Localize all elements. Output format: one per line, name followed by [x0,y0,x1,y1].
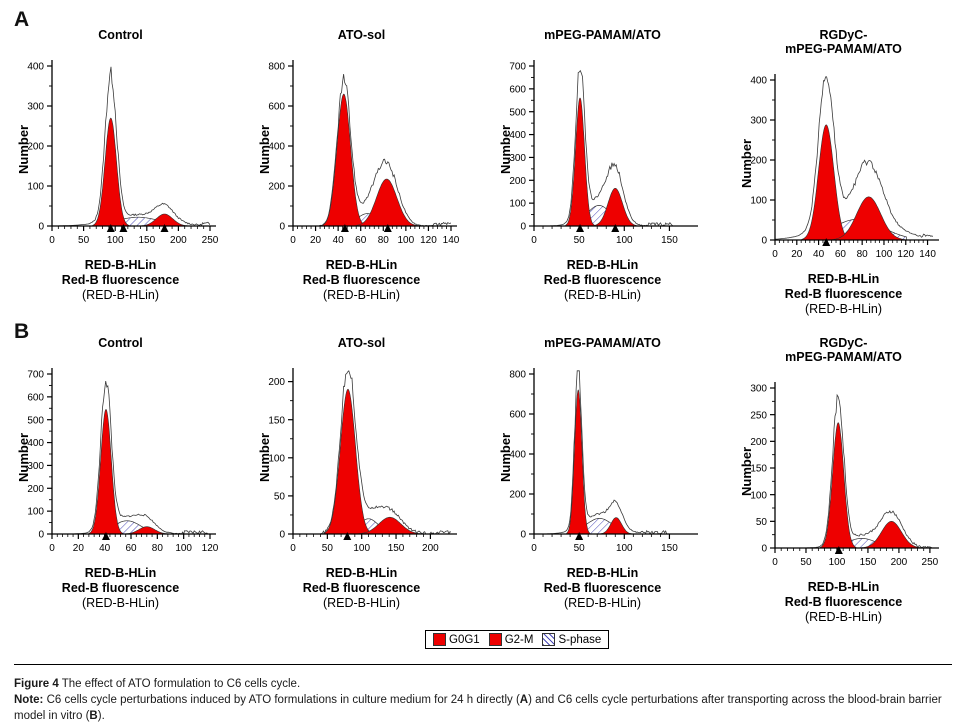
x-caption-line3: (RED-B-HLin) [723,302,964,317]
x-caption-line1: RED-B-HLin [241,566,482,581]
y-tick-label: 150 [268,415,285,426]
x-tick-label: 50 [322,543,334,554]
y-tick-label: 500 [509,107,526,118]
plot-a3: 0100200300400500600700050100150 [482,44,723,256]
x-caption-line3: (RED-B-HLin) [482,596,723,611]
x-tick-label: 50 [78,235,90,246]
x-tick-label: 250 [202,235,219,246]
figure-caption: Figure 4 The effect of ATO formulation t… [14,676,952,724]
y-tick-label: 800 [509,370,526,381]
x-tick-label: 80 [857,249,869,260]
caption-note: Note: C6 cells cycle perturbations induc… [14,692,952,724]
x-tick-label: 60 [125,543,137,554]
plot-b2: 050100150200050100150200 [241,352,482,564]
x-caption-line1: RED-B-HLin [723,580,964,595]
x-tick-label: 200 [422,543,439,554]
plot-b3: 0200400600800050100150 [482,352,723,564]
x-caption-line2: Red-B fluorescence [723,287,964,302]
x-caption-line1: RED-B-HLin [723,272,964,287]
x-tick-label: 120 [420,235,437,246]
y-axis-label-a2: Number [257,125,272,174]
x-caption-line2: Red-B fluorescence [241,273,482,288]
y-tick-label: 600 [509,84,526,95]
legend-swatch-g2m-icon [489,633,502,646]
x-caption-line1: RED-B-HLin [0,566,241,581]
x-tick-label: 80 [152,543,164,554]
g0g1-peak-area [567,390,590,534]
x-tick-label: 100 [398,235,415,246]
x-caption-line2: Red-B fluorescence [0,581,241,596]
x-tick-label: 150 [661,543,678,554]
y-tick-label: 700 [27,370,44,381]
caption-divider [14,664,952,665]
y-tick-label: 300 [27,102,44,113]
g0g1-peak-area [566,98,595,226]
chart-panel-b1: Control010020030040050060070002040608010… [0,336,241,626]
plot-a2: 0200400600800020406080100120140 [241,44,482,256]
histogram-envelope [775,77,933,239]
x-axis-caption-b1: RED-B-HLinRed-B fluorescence(RED-B-HLin) [0,566,241,611]
chart-title-line1: RGDyC- [723,28,964,42]
x-caption-line3: (RED-B-HLin) [241,288,482,303]
x-axis-caption-a2: RED-B-HLinRed-B fluorescence(RED-B-HLin) [241,258,482,303]
x-tick-label: 200 [891,557,908,568]
chart-panel-a1: Control0100200300400050100150200250Numbe… [0,28,241,318]
y-tick-label: 0 [38,530,44,541]
x-tick-label: 100 [616,543,633,554]
x-tick-label: 0 [290,235,296,246]
histogram-envelope [52,67,210,226]
x-tick-label: 40 [333,235,345,246]
x-tick-label: 50 [574,543,586,554]
y-tick-label: 0 [520,530,526,541]
y-tick-label: 0 [520,222,526,233]
x-tick-label: 150 [860,557,877,568]
plot-area-b4: 050100150200250300050100150200250 [723,352,964,578]
legend-item-g0g1: G0G1 [433,633,480,646]
chart-title-b1: Control [0,336,241,350]
legend: G0G1 G2-M S-phase [425,630,609,649]
plot-area-a1: 0100200300400050100150200250 [0,44,241,256]
y-tick-label: 500 [27,415,44,426]
y-tick-label: 0 [38,222,44,233]
y-tick-label: 200 [509,176,526,187]
panel-row-a: Control0100200300400050100150200250Numbe… [0,28,964,318]
x-tick-label: 20 [310,235,322,246]
y-tick-label: 400 [27,62,44,73]
y-axis-label-a3: Number [498,125,513,174]
x-caption-line3: (RED-B-HLin) [723,610,964,625]
x-caption-line3: (RED-B-HLin) [0,288,241,303]
x-caption-line1: RED-B-HLin [482,566,723,581]
x-axis-caption-b2: RED-B-HLinRed-B fluorescence(RED-B-HLin) [241,566,482,611]
x-tick-label: 120 [202,543,219,554]
caption-note-label: Note: [14,694,43,706]
histogram-envelope [293,74,451,226]
x-tick-label: 100 [107,235,124,246]
y-tick-label: 100 [509,199,526,210]
y-tick-label: 600 [27,392,44,403]
histogram-envelope [52,381,210,534]
x-caption-line2: Red-B fluorescence [482,273,723,288]
chart-title-a1: Control [0,28,241,42]
x-tick-label: 100 [353,543,370,554]
caption-figure-number: Figure 4 [14,678,59,690]
g0g1-peak-area [820,423,856,548]
plot-area-b2: 050100150200050100150200 [241,352,482,564]
y-tick-label: 100 [27,507,44,518]
plot-area-a2: 0200400600800020406080100120140 [241,44,482,256]
y-tick-label: 100 [27,182,44,193]
y-tick-label: 800 [268,62,285,73]
y-tick-label: 0 [279,530,285,541]
chart-panel-b3: mPEG-PAMAM/ATO0200400600800050100150Numb… [482,336,723,626]
y-tick-label: 200 [509,490,526,501]
chart-title-b3: mPEG-PAMAM/ATO [482,336,723,350]
x-axis-caption-a3: RED-B-HLinRed-B fluorescence(RED-B-HLin) [482,258,723,303]
chart-title-b2: ATO-sol [241,336,482,350]
y-tick-label: 600 [268,102,285,113]
x-tick-label: 40 [99,543,111,554]
y-axis-label-b3: Number [498,433,513,482]
plot-a1: 0100200300400050100150200250 [0,44,241,256]
y-axis-label-b1: Number [16,433,31,482]
x-caption-line2: Red-B fluorescence [723,595,964,610]
histogram-envelope [293,371,451,534]
caption-note-ref-b: B [89,710,97,722]
y-tick-label: 200 [268,182,285,193]
x-axis-caption-b4: RED-B-HLinRed-B fluorescence(RED-B-HLin) [723,580,964,625]
x-tick-label: 0 [49,543,55,554]
x-caption-line3: (RED-B-HLin) [241,596,482,611]
x-tick-label: 100 [876,249,893,260]
chart-title-a2: ATO-sol [241,28,482,42]
g0g1-peak-area [322,94,365,226]
caption-title-text: The effect of ATO formulation to C6 cell… [59,678,300,690]
x-caption-line3: (RED-B-HLin) [0,596,241,611]
y-tick-label: 0 [761,544,767,555]
x-caption-line3: (RED-B-HLin) [482,288,723,303]
g0g1-peak-area [89,409,123,534]
legend-swatch-g0g1-icon [433,633,446,646]
legend-label-g2m: G2-M [505,634,534,646]
legend-item-g2m: G2-M [489,633,534,646]
x-tick-label: 100 [829,557,846,568]
x-axis-caption-a4: RED-B-HLinRed-B fluorescence(RED-B-HLin) [723,272,964,317]
chart-panel-a4: RGDyC-mPEG-PAMAM/ATO01002003004000204060… [723,28,964,318]
y-tick-label: 300 [750,384,767,395]
y-tick-label: 300 [750,116,767,127]
caption-note-ref-a: A [520,694,528,706]
y-axis-label-b2: Number [257,433,272,482]
x-caption-line1: RED-B-HLin [0,258,241,273]
x-tick-label: 60 [835,249,847,260]
chart-panel-b4: RGDyC-mPEG-PAMAM/ATO05010015020025030005… [723,336,964,626]
y-tick-label: 700 [509,62,526,73]
x-tick-label: 50 [574,235,586,246]
x-caption-line2: Red-B fluorescence [241,581,482,596]
x-tick-label: 20 [791,249,803,260]
chart-title-a3: mPEG-PAMAM/ATO [482,28,723,42]
x-tick-label: 20 [73,543,85,554]
x-axis-caption-a1: RED-B-HLinRed-B fluorescence(RED-B-HLin) [0,258,241,303]
y-axis-label-b4: Number [739,447,754,496]
legend-item-sphase: S-phase [542,633,601,646]
x-tick-label: 0 [531,543,537,554]
x-tick-label: 120 [897,249,914,260]
chart-panel-a2: ATO-sol0200400600800020406080100120140Nu… [241,28,482,318]
y-tick-label: 50 [756,517,768,528]
y-tick-label: 50 [274,492,286,503]
chart-title-line1: RGDyC- [723,336,964,350]
x-tick-label: 250 [922,557,939,568]
chart-panel-a3: mPEG-PAMAM/ATO01002003004005006007000501… [482,28,723,318]
x-tick-label: 80 [378,235,390,246]
x-tick-label: 150 [661,235,678,246]
x-tick-label: 140 [443,235,460,246]
legend-label-g0g1: G0G1 [449,634,480,646]
x-tick-label: 0 [290,543,296,554]
caption-title: Figure 4 The effect of ATO formulation t… [14,676,952,692]
x-tick-label: 150 [388,543,405,554]
y-axis-label-a4: Number [739,139,754,188]
x-tick-label: 100 [175,543,192,554]
plot-area-a4: 0100200300400020406080100120140 [723,44,964,270]
caption-note-part1: C6 cells cycle perturbations induced by … [43,694,519,706]
x-tick-label: 150 [138,235,155,246]
x-tick-label: 200 [170,235,187,246]
x-tick-label: 50 [800,557,812,568]
plot-a4: 0100200300400020406080100120140 [723,44,964,270]
y-tick-label: 0 [279,222,285,233]
chart-panel-b2: ATO-sol050100150200050100150200NumberRED… [241,336,482,626]
plot-area-b1: 0100200300400500600700020406080100120 [0,352,241,564]
x-tick-label: 60 [355,235,367,246]
x-tick-label: 40 [813,249,825,260]
y-axis-label-a1: Number [16,125,31,174]
x-tick-label: 0 [772,249,778,260]
x-caption-line1: RED-B-HLin [482,258,723,273]
y-tick-label: 400 [750,76,767,87]
legend-label-sphase: S-phase [558,634,601,646]
x-tick-label: 0 [772,557,778,568]
x-caption-line2: Red-B fluorescence [0,273,241,288]
x-tick-label: 100 [616,235,633,246]
x-tick-label: 140 [919,249,936,260]
x-caption-line2: Red-B fluorescence [482,581,723,596]
y-tick-label: 600 [509,410,526,421]
caption-note-part3: ). [98,710,105,722]
plot-b4: 050100150200250300050100150200250 [723,352,964,578]
figure-4-container: A B Control0100200300400050100150200250N… [0,0,964,724]
plot-area-b3: 0200400600800050100150 [482,352,723,564]
plot-b1: 0100200300400500600700020406080100120 [0,352,241,564]
y-tick-label: 200 [268,377,285,388]
histogram-envelope [775,395,933,548]
plot-area-a3: 0100200300400500600700050100150 [482,44,723,256]
y-tick-label: 100 [750,196,767,207]
y-tick-label: 250 [750,410,767,421]
legend-swatch-sphase-icon [542,633,555,646]
histogram-envelope [534,371,692,534]
y-tick-label: 200 [27,484,44,495]
x-tick-label: 0 [49,235,55,246]
g0g1-peak-area [324,389,372,534]
x-tick-label: 0 [531,235,537,246]
y-tick-label: 0 [761,236,767,247]
x-caption-line1: RED-B-HLin [241,258,482,273]
x-axis-caption-b3: RED-B-HLinRed-B fluorescence(RED-B-HLin) [482,566,723,611]
panel-row-b: Control010020030040050060070002040608010… [0,336,964,626]
